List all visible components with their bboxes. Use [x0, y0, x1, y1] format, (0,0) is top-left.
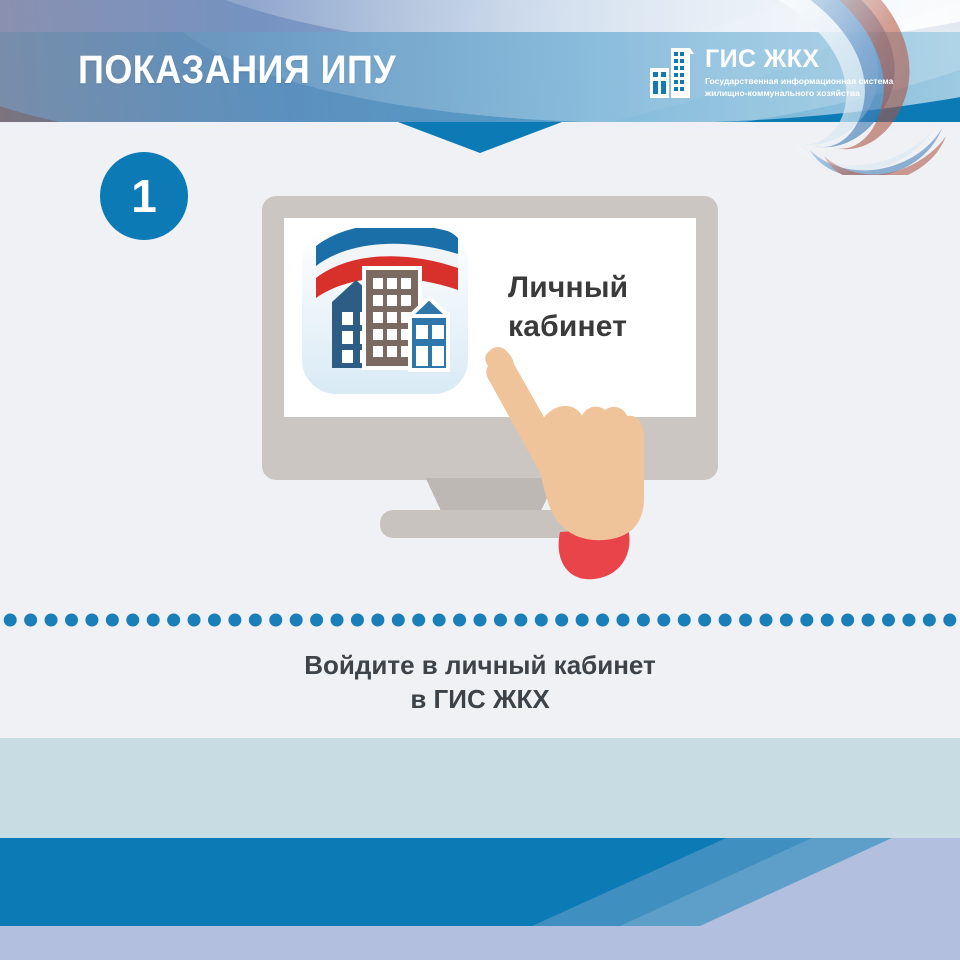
divider-dot: [371, 614, 384, 627]
divider-dot: [719, 614, 732, 627]
divider-dot: [841, 614, 854, 627]
divider-dot: [310, 614, 323, 627]
divider-dot: [759, 614, 772, 627]
divider-dot: [433, 614, 446, 627]
divider-dot: [514, 614, 527, 627]
brand-logo-subtitle-line2: жилищно-коммунального хозяйства: [705, 88, 893, 99]
step-caption: Войдите в личный кабинет в ГИС ЖКХ: [0, 648, 960, 717]
header-chevron-down-icon: [398, 122, 562, 153]
bottom-band-pale: [0, 738, 960, 838]
divider-dot: [698, 614, 711, 627]
brand-logo-text: ГИС ЖКХ Государственная информационная с…: [705, 46, 893, 99]
screen-label-line1: Личный: [508, 268, 628, 307]
divider-dot: [412, 614, 425, 627]
divider-dot: [290, 614, 303, 627]
divider-dot: [494, 614, 507, 627]
divider-dot: [616, 614, 629, 627]
divider-dot: [678, 614, 691, 627]
brand-logo-subtitle-line1: Государственная информационная система: [705, 76, 893, 87]
brand-logo: ГИС ЖКХ Государственная информационная с…: [648, 46, 893, 100]
divider-dot: [555, 614, 568, 627]
divider-dot: [147, 614, 160, 627]
divider-dot: [902, 614, 915, 627]
screen-label-line2: кабинет: [508, 307, 628, 346]
dotted-divider: [0, 613, 960, 627]
step-caption-line2: в ГИС ЖКХ: [0, 682, 960, 716]
gis-zkh-buildings-icon: [648, 46, 696, 100]
brand-logo-title: ГИС ЖКХ: [705, 47, 893, 72]
divider-dot: [882, 614, 895, 627]
step-caption-line1: Войдите в личный кабинет: [0, 648, 960, 682]
divider-dot: [65, 614, 78, 627]
russian-flag-buildings-icon: [302, 228, 468, 394]
step-number-badge: 1: [100, 152, 188, 240]
divider-dot: [106, 614, 119, 627]
divider-dot: [739, 614, 752, 627]
divider-dot: [208, 614, 221, 627]
divider-dot: [167, 614, 180, 627]
divider-dot: [392, 614, 405, 627]
divider-dot: [126, 614, 139, 627]
screen-label: Личный кабинет: [508, 268, 628, 346]
divider-dot: [657, 614, 670, 627]
divider-dot: [821, 614, 834, 627]
divider-dot: [85, 614, 98, 627]
divider-dot: [862, 614, 875, 627]
divider-dot: [780, 614, 793, 627]
divider-dot: [535, 614, 548, 627]
divider-dot: [576, 614, 589, 627]
divider-dot: [45, 614, 58, 627]
divider-dot: [249, 614, 262, 627]
divider-dot: [351, 614, 364, 627]
divider-dot: [4, 614, 17, 627]
divider-dot: [453, 614, 466, 627]
divider-dot: [188, 614, 201, 627]
divider-dot: [228, 614, 241, 627]
divider-dot: [637, 614, 650, 627]
pointing-hand-icon: [472, 346, 672, 586]
divider-dot: [474, 614, 487, 627]
page-title: ПОКАЗАНИЯ ИПУ: [78, 48, 396, 93]
divider-dot: [269, 614, 282, 627]
infographic-poster: ПОКАЗАНИЯ ИПУ ГИС: [0, 0, 960, 960]
divider-dot: [596, 614, 609, 627]
divider-dot: [331, 614, 344, 627]
divider-dot: [24, 614, 37, 627]
divider-dot: [800, 614, 813, 627]
divider-dot: [923, 614, 936, 627]
divider-dot: [943, 614, 956, 627]
